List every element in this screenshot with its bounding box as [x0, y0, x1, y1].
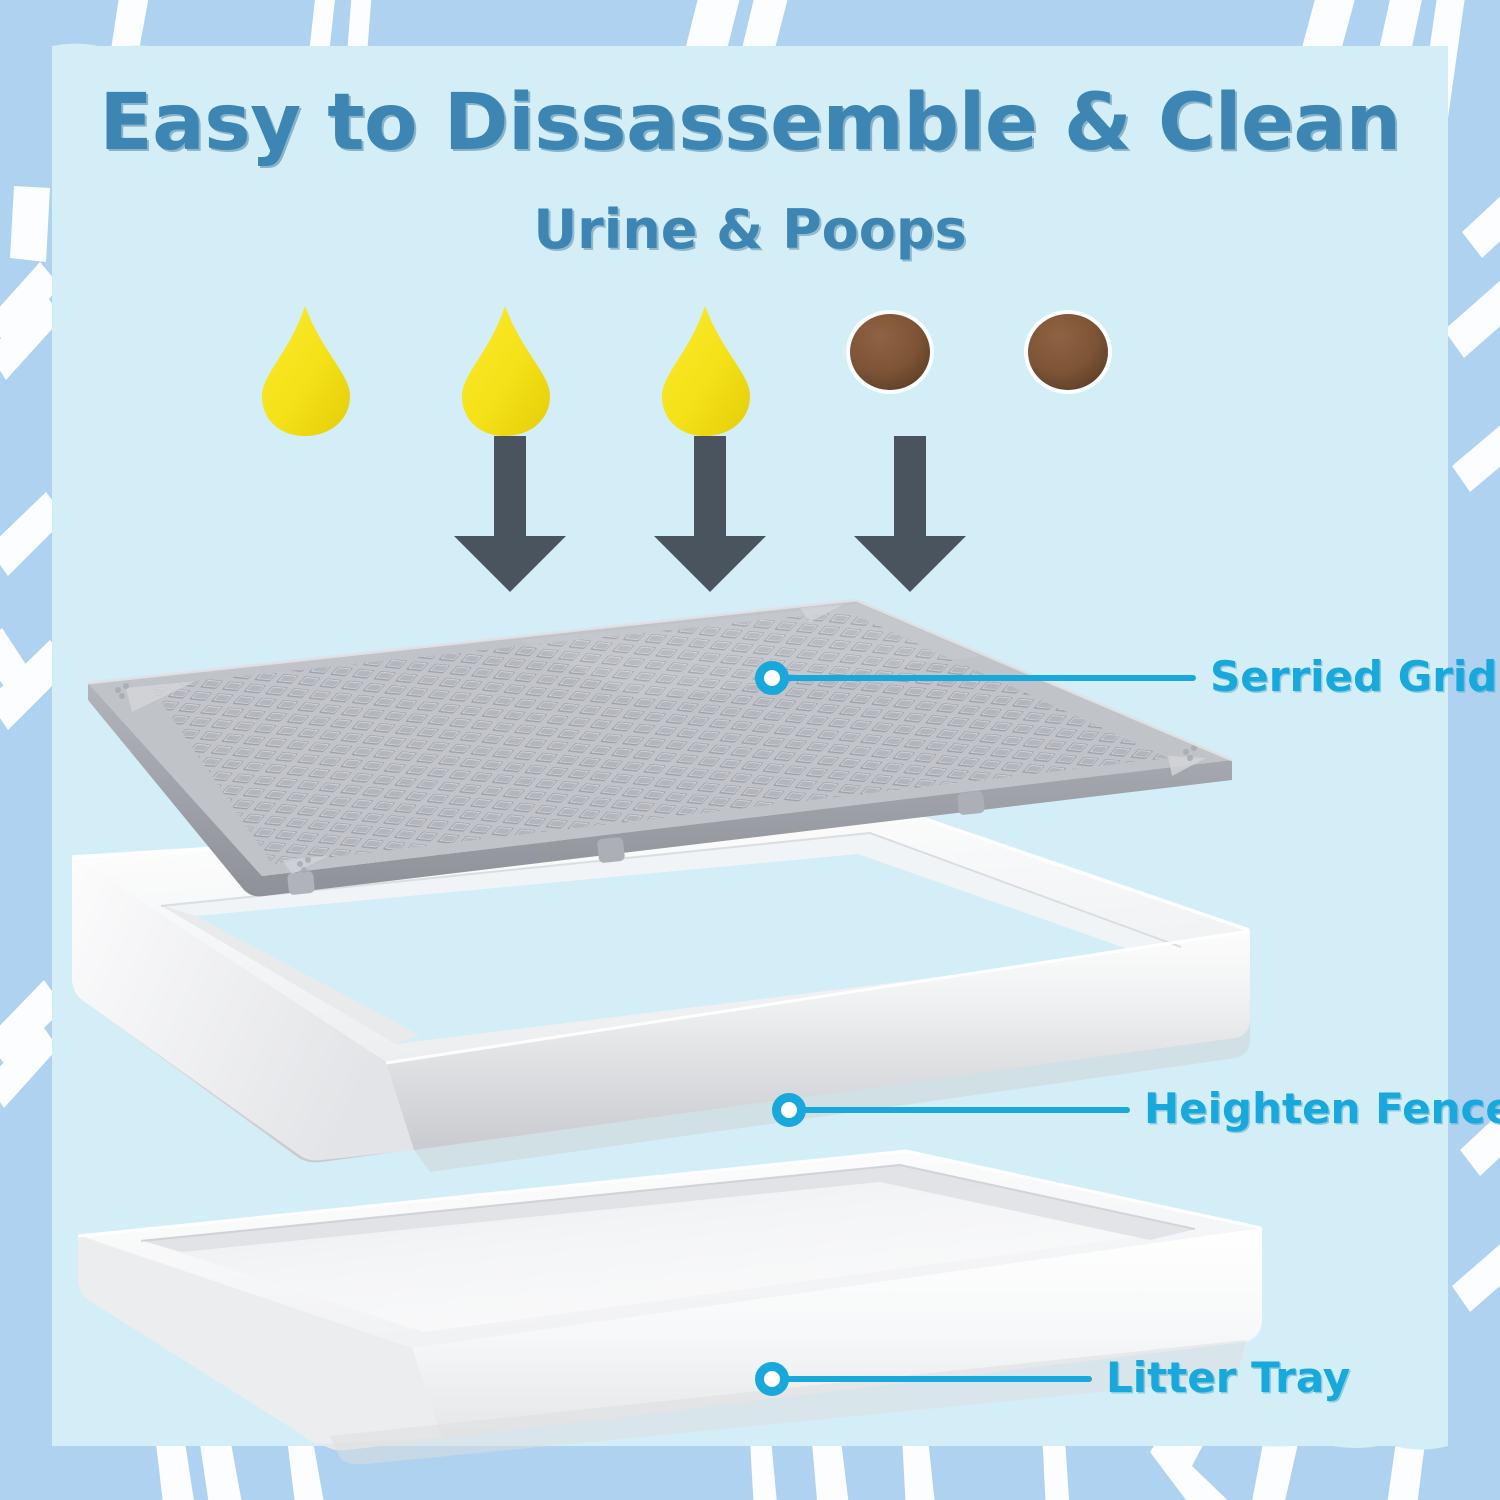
callout-line-heighten-fence: [802, 1107, 1130, 1113]
callout-marker-serried-grid[interactable]: [755, 661, 789, 695]
callout-marker-litter-tray[interactable]: [755, 1362, 789, 1396]
label-litter-tray: Litter Tray: [1106, 1353, 1350, 1402]
exploded-product-view: [0, 0, 1500, 1500]
callout-line-serried-grid: [786, 675, 1196, 681]
product-infographic: Easy to Dissassemble & Clean Urine & Poo…: [0, 0, 1500, 1500]
callout-line-litter-tray: [786, 1376, 1092, 1382]
callout-marker-heighten-fence[interactable]: [772, 1093, 806, 1127]
label-serried-grid: Serried Grid: [1210, 652, 1497, 701]
label-heighten-fence: Heighten Fence: [1144, 1084, 1500, 1133]
litter-tray-component: [78, 1150, 1262, 1464]
